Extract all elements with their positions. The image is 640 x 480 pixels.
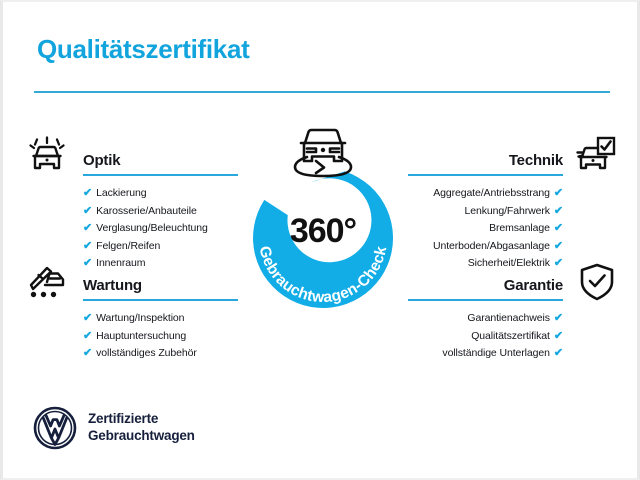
car-polish-icon (25, 134, 69, 178)
footer-line-2: Gebrauchtwagen (88, 427, 195, 444)
check-icon: ✔ (83, 347, 92, 359)
car-service-wrench-icon (25, 259, 69, 303)
list-item: ✔Felgen/Reifen (83, 238, 238, 256)
section-title: Optik (83, 152, 120, 169)
list-item-label: vollständiges Zubehör (96, 347, 197, 359)
car-rotate-360-icon (283, 119, 363, 181)
checklist-wartung: ✔Wartung/Inspektion ✔Hauptuntersuchung ✔… (83, 310, 238, 363)
list-item: ✔Lackierung (83, 185, 238, 203)
footer-branding: Zertifizierte Gebrauchtwagen (33, 404, 293, 454)
check-icon: ✔ (554, 187, 563, 199)
checklist-technik: Aggregate/Antriebsstrang✔ Lenkung/Fahrwe… (408, 185, 563, 273)
list-item: Lenkung/Fahrwerk✔ (408, 203, 563, 221)
list-item-label: Wartung/Inspektion (96, 312, 184, 324)
list-item: Bremsanlage✔ (408, 220, 563, 238)
list-item-label: Innenraum (96, 257, 145, 269)
check-icon: ✔ (83, 257, 92, 269)
list-item-label: Garantienachweis (467, 312, 549, 324)
section-header: Optik (83, 145, 238, 171)
badge-center-label: 360° (239, 212, 407, 251)
list-item-label: Hauptuntersuchung (96, 330, 186, 342)
checklist-optik: ✔Lackierung ✔Karosserie/Anbauteile ✔Verg… (83, 185, 238, 273)
section-title: Garantie (504, 277, 563, 294)
list-item-label: Felgen/Reifen (96, 240, 160, 252)
title-divider (34, 91, 610, 93)
car-checkbox-icon (573, 134, 617, 178)
section-garantie: Garantie Garantienachweis✔ Qualitätszert… (408, 270, 563, 296)
list-item: Unterboden/Abgasanlage✔ (408, 238, 563, 256)
checklist-garantie: Garantienachweis✔ Qualitätszertifikat✔ v… (408, 310, 563, 363)
check-icon: ✔ (554, 240, 563, 252)
check-icon: ✔ (83, 222, 92, 234)
check-icon: ✔ (83, 205, 92, 217)
list-item-label: Bremsanlage (489, 222, 550, 234)
list-item-label: Lenkung/Fahrwerk (465, 205, 550, 217)
section-optik: Optik ✔Lackierung ✔Karosserie/Anbauteile… (83, 145, 238, 171)
list-item-label: vollständige Unterlagen (442, 347, 549, 359)
check-icon: ✔ (554, 257, 563, 269)
section-technik: Technik Aggregate/Antriebsstrang✔ Lenkun… (408, 145, 563, 171)
list-item-label: Verglasung/Beleuchtung (96, 222, 208, 234)
check-icon: ✔ (554, 347, 563, 359)
certificate-page: Qualitätszertifikat (0, 0, 640, 480)
section-title: Technik (509, 152, 563, 169)
list-item-label: Aggregate/Antriebsstrang (433, 187, 550, 199)
list-item: ✔Karosserie/Anbauteile (83, 203, 238, 221)
check-icon: ✔ (554, 222, 563, 234)
section-header: Technik (408, 145, 563, 171)
list-item: vollständige Unterlagen✔ (408, 345, 563, 363)
section-header: Garantie (408, 270, 563, 296)
section-divider (83, 174, 238, 176)
list-item: ✔Wartung/Inspektion (83, 310, 238, 328)
list-item-label: Karosserie/Anbauteile (96, 205, 197, 217)
list-item-label: Lackierung (96, 187, 146, 199)
footer-line-1: Zertifizierte (88, 410, 195, 427)
check-icon: ✔ (554, 330, 563, 342)
list-item: ✔Verglasung/Beleuchtung (83, 220, 238, 238)
section-wartung: Wartung ✔Wartung/Inspektion ✔Hauptunters… (83, 270, 238, 296)
list-item: Aggregate/Antriebsstrang✔ (408, 185, 563, 203)
footer-text: Zertifizierte Gebrauchtwagen (88, 410, 195, 444)
section-divider (408, 299, 563, 301)
page-title: Qualitätszertifikat (37, 34, 249, 65)
list-item-label: Unterboden/Abgasanlage (433, 240, 550, 252)
section-header: Wartung (83, 270, 238, 296)
volkswagen-logo (33, 406, 77, 450)
shield-check-icon (575, 260, 619, 304)
section-divider (83, 299, 238, 301)
list-item-label: Sicherheit/Elektrik (468, 257, 550, 269)
check-icon: ✔ (83, 187, 92, 199)
check-icon: ✔ (554, 205, 563, 217)
section-divider (408, 174, 563, 176)
list-item: Garantienachweis✔ (408, 310, 563, 328)
list-item: Qualitätszertifikat✔ (408, 328, 563, 346)
list-item: ✔vollständiges Zubehör (83, 345, 238, 363)
list-item-label: Qualitätszertifikat (471, 330, 550, 342)
list-item: ✔Hauptuntersuchung (83, 328, 238, 346)
check-icon: ✔ (554, 312, 563, 324)
check-icon: ✔ (83, 330, 92, 342)
section-title: Wartung (83, 277, 142, 294)
check-icon: ✔ (83, 240, 92, 252)
check-icon: ✔ (83, 312, 92, 324)
